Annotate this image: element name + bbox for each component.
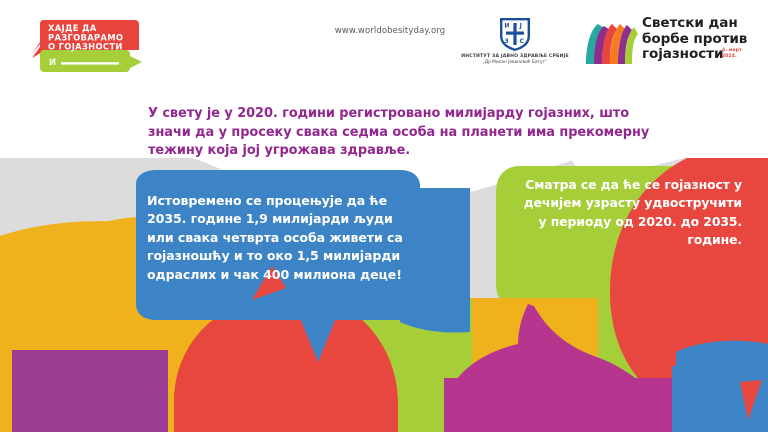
poster-header: ХАЈДЕ ДА РАЗГОВАРАМО О ГОЈАЗНОСТИ И www.… xyxy=(0,0,768,92)
wod-title-line1: Светски дан xyxy=(642,16,747,32)
wod-date-line2: 2024. xyxy=(722,54,742,60)
campaign-logo-green-tail xyxy=(126,54,142,70)
campaign-logo-line3: О ГОЈАЗНОСТИ xyxy=(48,41,123,51)
world-obesity-day-mark-icon xyxy=(584,20,638,66)
purple-block-left xyxy=(12,350,168,432)
green-bubble-text: Сматра се да ће се гојазност у дечијем у… xyxy=(520,176,742,250)
world-obesity-day-date: 4. март 2024. xyxy=(722,48,742,59)
shield-letter-i: И xyxy=(504,22,509,29)
shield-letter-z: З xyxy=(504,38,508,45)
campaign-logo-line4: И xyxy=(49,57,56,67)
shield-letter-j: J xyxy=(519,22,522,29)
institute-shield-icon: И J З С xyxy=(498,16,532,52)
world-obesity-day-logo: Светски дан борбе против гојазности 4. м… xyxy=(584,14,754,80)
campaign-logo-blank-line xyxy=(61,62,119,64)
campaign-logo: ХАЈДЕ ДА РАЗГОВАРАМО О ГОЈАЗНОСТИ И xyxy=(30,18,142,82)
blue-bubble-extension xyxy=(400,188,470,333)
magenta-block-bottom-right xyxy=(444,378,672,432)
shield-letter-s: С xyxy=(520,38,525,45)
infographic-poster: ХАЈДЕ ДА РАЗГОВАРАМО О ГОЈАЗНОСТИ И www.… xyxy=(0,0,768,432)
blue-bubble-text: Истовремено се процењује да ће 2035. год… xyxy=(147,192,405,284)
wod-title-line2: борбе против xyxy=(642,32,747,48)
shield-cross-h xyxy=(506,32,524,35)
campaign-logo-graphic: ХАЈДЕ ДА РАЗГОВАРАМО О ГОЈАЗНОСТИ И xyxy=(30,18,142,82)
institute-logo: И J З С ИНСТИТУТ ЗА ЈАВНО ЗДРАВЉЕ СРБИЈЕ… xyxy=(452,16,578,78)
campaign-logo-line1: ХАЈДЕ ДА xyxy=(48,23,97,33)
institute-name-line2: „Др Милан Јовановић Батут” xyxy=(452,59,578,64)
wod-date-line1: 4. март xyxy=(722,48,742,54)
lead-paragraph: У свету је у 2020. години регистровано м… xyxy=(148,105,653,161)
